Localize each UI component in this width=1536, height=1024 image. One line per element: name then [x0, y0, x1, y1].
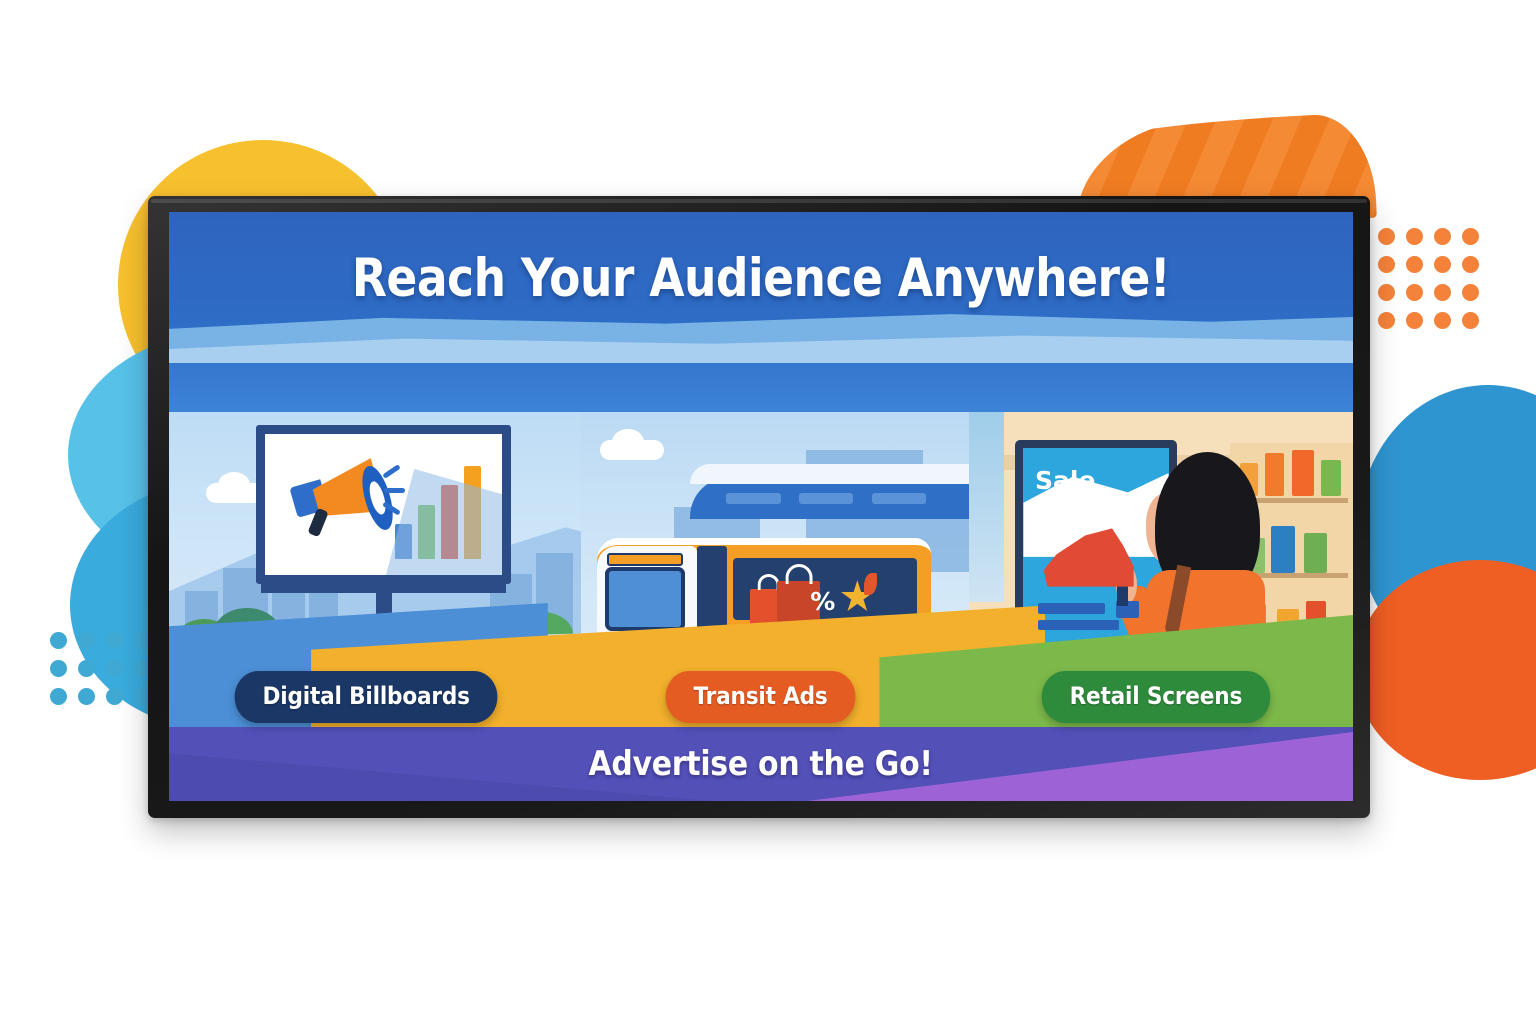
train-window [726, 493, 781, 504]
channel-pill-row: Digital Billboards Transit Ads Retail Sc… [169, 671, 1353, 723]
display-screen: Reach Your Audience Anywhere! [169, 212, 1353, 801]
pill-slot: Retail Screens [958, 671, 1353, 723]
decor-dot-grid-left [50, 632, 151, 705]
product-box [1292, 450, 1314, 495]
kiosk-text-bar [1038, 603, 1105, 615]
chart-bar [418, 505, 435, 559]
megaphone-icon [291, 462, 386, 538]
store-window [969, 412, 1004, 602]
pill-digital-billboards[interactable]: Digital Billboards [235, 671, 498, 723]
pill-transit-ads[interactable]: Transit Ads [666, 671, 856, 723]
pill-retail-screens[interactable]: Retail Screens [1041, 671, 1269, 723]
bar-chart-graphic [395, 466, 481, 559]
footer-tagline: Advertise on the Go! [169, 744, 1353, 784]
kiosk-text-bar [1038, 620, 1119, 630]
pill-slot: Transit Ads [564, 671, 959, 723]
billboard-structure [256, 425, 511, 584]
chart-bar [441, 485, 458, 560]
product-box [1321, 460, 1341, 495]
sale-label: Sale [1035, 466, 1095, 495]
decor-blue-blob-right [1358, 385, 1536, 675]
page-title: Reach Your Audience Anywhere! [252, 248, 1270, 309]
decor-orange-blob-right [1355, 560, 1536, 780]
footer-band: Advertise on the Go! [169, 727, 1353, 801]
train-window [872, 493, 927, 504]
chart-bar [464, 466, 481, 559]
chart-bar [395, 524, 412, 559]
bus-destination-sign [607, 553, 683, 566]
high-heel-shoe-icon [1044, 527, 1134, 587]
train-window [799, 493, 854, 504]
product-box [1304, 533, 1327, 573]
footer-tagline-text: Advertise on the Go! [589, 744, 933, 784]
display-frame: Reach Your Audience Anywhere! [148, 196, 1370, 818]
pill-slot: Digital Billboards [169, 671, 564, 723]
train-icon [690, 477, 970, 519]
billboard-face [256, 425, 511, 584]
decor-dot-grid-right [1378, 228, 1479, 329]
